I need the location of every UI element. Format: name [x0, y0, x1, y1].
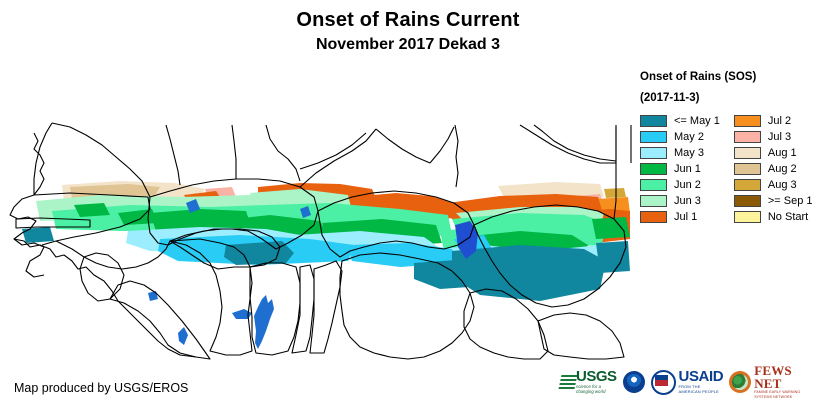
band-may1-a — [224, 241, 294, 265]
legend-label-may2: May 2 — [674, 131, 704, 143]
legend-label-aug3: Aug 3 — [768, 179, 797, 191]
fewsnet-globe-icon — [729, 371, 751, 393]
legend-date: (2017-11-3) — [640, 91, 816, 105]
legend-swatch-jun3 — [640, 195, 667, 207]
legend-item-may2[interactable]: May 2 — [640, 130, 720, 144]
legend-panel: Onset of Rains (SOS) (2017-11-3) <= May … — [640, 70, 816, 224]
legend-item-may3[interactable]: May 3 — [640, 146, 720, 160]
usgs-tagline: science for a changing world — [576, 384, 617, 394]
legend-item-jul3[interactable]: Jul 3 — [734, 130, 813, 144]
legend-item-jun3[interactable]: Jun 3 — [640, 194, 720, 208]
usgs-wordmark: USGS — [576, 370, 617, 384]
legend-swatch-jun2 — [640, 179, 667, 191]
usaid-tagline: FROM THE AMERICAN PEOPLE — [679, 384, 724, 394]
legend-item-may1[interactable]: <= May 1 — [640, 114, 720, 128]
usaid-seal-icon — [651, 370, 676, 395]
legend-swatch-jul2 — [734, 115, 761, 127]
legend-item-nostart[interactable]: No Start — [734, 210, 813, 224]
legend-swatch-aug1 — [734, 147, 761, 159]
fewsnet-logo: FEWS NET FAMINE EARLY WARNING SYSTEMS NE… — [729, 367, 810, 397]
legend-item-aug3[interactable]: Aug 3 — [734, 178, 813, 192]
usgs-wave-icon — [559, 375, 578, 389]
legend-label-jun1: Jun 1 — [674, 163, 701, 175]
legend-swatch-jul3 — [734, 131, 761, 143]
border-niger-north2 — [430, 127, 454, 163]
legend-item-jul2[interactable]: Jul 2 — [734, 114, 813, 128]
legend-item-jun1[interactable]: Jun 1 — [640, 162, 720, 176]
water-lake-volta — [254, 295, 274, 349]
band-may1-e — [22, 227, 54, 243]
legend-swatch-aug2 — [734, 163, 761, 175]
legend-swatch-nostart — [734, 211, 761, 223]
border-mali-north — [232, 125, 236, 179]
legend-item-jul1[interactable]: Jul 1 — [640, 210, 720, 224]
border-car — [538, 313, 624, 359]
legend-columns: <= May 1 May 2 May 3 Jun 1 Jun 2 Jun 3 — [640, 114, 816, 224]
legend-label-jul3: Jul 3 — [768, 131, 791, 143]
legend-label-sep1: >= Sep 1 — [768, 195, 813, 207]
legend-item-jun2[interactable]: Jun 2 — [640, 178, 720, 192]
legend-column-right: Jul 2 Jul 3 Aug 1 Aug 2 Aug 3 >= Sep 1 — [734, 114, 813, 224]
border-sahara-4 — [455, 125, 458, 187]
usaid-wordmark: USAID — [679, 370, 724, 384]
border-benin — [310, 261, 342, 353]
legend-swatch-aug3 — [734, 179, 761, 191]
legend-label-jul1: Jul 1 — [674, 211, 697, 223]
legend-label-may3: May 3 — [674, 147, 704, 159]
border-sahara-1 — [166, 125, 180, 185]
legend-swatch-may3 — [640, 147, 667, 159]
usgs-logo: USGS science for a changing world — [560, 367, 617, 397]
map-credit: Map produced by USGS/EROS — [14, 381, 188, 395]
border-liberia — [110, 281, 210, 359]
legend-swatch-may2 — [640, 131, 667, 143]
fewsnet-wordmark: FEWS NET — [754, 364, 810, 390]
legend-item-aug1[interactable]: Aug 1 — [734, 146, 813, 160]
page-title: Onset of Rains Current — [0, 8, 816, 32]
band-aug3 — [604, 188, 626, 198]
band-jun1-f — [74, 203, 110, 217]
legend-label-jun3: Jun 3 — [674, 195, 701, 207]
band-may1-d — [596, 241, 630, 273]
legend-label-aug2: Aug 2 — [768, 163, 797, 175]
border-sierraleone — [80, 253, 124, 301]
usaid-logo: USAID FROM THE AMERICAN PEOPLE — [651, 367, 724, 397]
noaa-seal-icon — [623, 371, 645, 393]
legend-item-sep1[interactable]: >= Sep 1 — [734, 194, 813, 208]
border-mali-niger-north — [300, 129, 376, 187]
legend-swatch-sep1 — [734, 195, 761, 207]
border-sahara-2 — [266, 125, 300, 181]
map-panel[interactable] — [0, 63, 632, 360]
fewsnet-tagline: FAMINE EARLY WARNING SYSTEMS NETWORK — [754, 390, 810, 400]
water-lake-small — [178, 327, 188, 345]
noaa-logo — [623, 367, 645, 397]
border-togo — [292, 265, 314, 353]
legend-item-aug2[interactable]: Aug 2 — [734, 162, 813, 176]
border-sahara-3 — [300, 133, 366, 169]
border-niger-north — [376, 129, 430, 163]
legend-swatch-jul1 — [640, 211, 667, 223]
legend-label-nostart: No Start — [768, 211, 808, 223]
legend-swatch-jun1 — [640, 163, 667, 175]
border-mauritania — [34, 123, 52, 195]
legend-label-jun2: Jun 2 — [674, 179, 701, 191]
title-block: Onset of Rains Current November 2017 Dek… — [0, 0, 816, 55]
legend-label-may1: <= May 1 — [674, 115, 720, 127]
logo-bar: USGS science for a changing world USAID … — [560, 366, 810, 398]
page-subtitle: November 2017 Dekad 3 — [0, 35, 816, 55]
water-lake-small2 — [148, 291, 158, 301]
coast-gb — [14, 239, 196, 357]
legend-title: Onset of Rains (SOS) — [640, 70, 816, 84]
legend-label-jul2: Jul 2 — [768, 115, 791, 127]
legend-column-left: <= May 1 May 2 May 3 Jun 1 Jun 2 Jun 3 — [640, 114, 720, 224]
map-canvas[interactable] — [0, 63, 632, 360]
border-sahara-5 — [520, 125, 616, 163]
legend-swatch-may1 — [640, 115, 667, 127]
legend-label-aug1: Aug 1 — [768, 147, 797, 159]
